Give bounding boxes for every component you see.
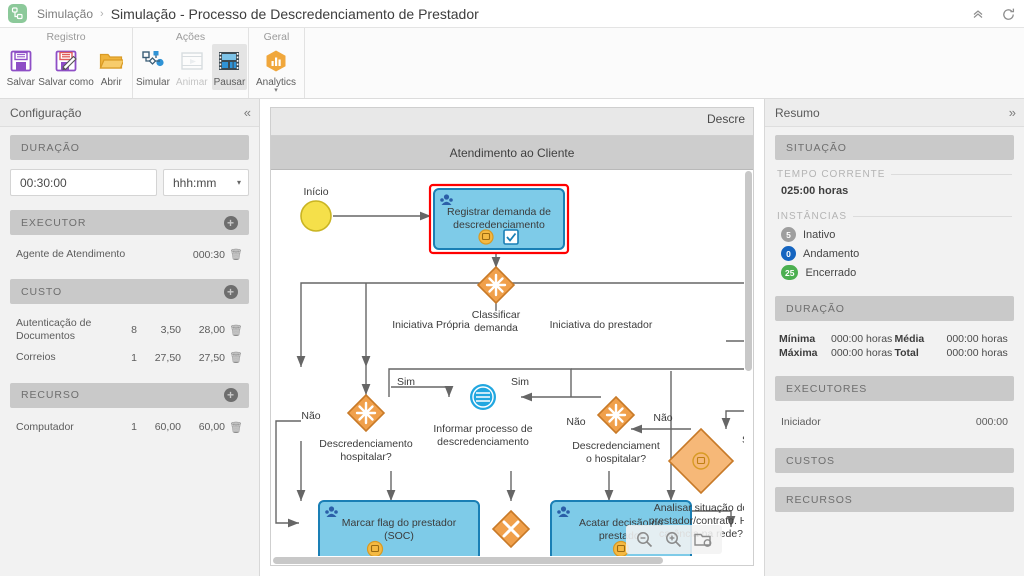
trash-icon[interactable]: 🗑 [225, 248, 243, 261]
save-label: Salvar [7, 77, 35, 88]
edge-label-iniciativa-propria: Iniciativa Própria [392, 319, 470, 331]
resumo-panel-header: Resumo » [765, 99, 1024, 127]
gateway-descred-hosp-label-2: hospitalar? [340, 451, 392, 463]
status-badge: 25 [781, 265, 798, 280]
gateway-descred-hosp2-label-2: o hospitalar? [586, 453, 646, 465]
save-icon [9, 47, 33, 74]
simulation-app: Simulação › Simulação - Processo de Desc… [0, 0, 1024, 576]
custo-row[interactable]: Autenticação de Documentos 8 3,50 28,00 … [10, 313, 249, 347]
task-registrar-label-2: descredenciamento [453, 219, 545, 231]
section-executores-label: EXECUTORES [786, 383, 867, 395]
horizontal-scroll-thumb[interactable] [273, 557, 663, 564]
ribbon-group-label: Geral [249, 28, 304, 44]
duracao-minima-value: 000:00 horas [831, 333, 892, 345]
save-as-label: Salvar como [38, 77, 94, 88]
intermediate-event-informar-processo [470, 384, 496, 410]
tempo-corrente-group: TEMPO CORRENTE [777, 169, 1012, 180]
trash-icon[interactable]: 🗑 [225, 324, 243, 337]
edge-label-nao-3: Não [653, 412, 672, 424]
add-recurso-button[interactable]: + [224, 388, 238, 402]
edge-label-nao-1: Não [301, 410, 320, 422]
duracao-maxima-label: Máxima [779, 347, 831, 359]
section-duracao-label: DURAÇÃO [21, 142, 80, 154]
edge-label-iniciativa-prestador: Iniciativa do prestador [550, 319, 653, 331]
main-body: Configuração « DURAÇÃO 00:30:00 hhh:mm ▾ [0, 99, 1024, 576]
section-custo: CUSTO + [10, 279, 249, 304]
executores-name: Iniciador [781, 416, 976, 428]
instance-label: Andamento [803, 248, 859, 260]
duracao-total-value: 000:00 horas [947, 347, 1008, 359]
configuration-panel-title: Configuração [10, 106, 81, 120]
duration-row: 00:30:00 hhh:mm ▾ [10, 169, 249, 196]
edge-label-sim-2: Sim [511, 376, 529, 388]
save-as-icon [54, 47, 78, 74]
folder-open-icon [99, 47, 123, 74]
duracao-maxima-row: Máxima 000:00 horas [779, 346, 895, 360]
lane-header: Atendimento ao Cliente [271, 136, 753, 170]
pool-title: Descre [707, 112, 745, 126]
ribbon-group-label: Registro [0, 28, 132, 44]
lane-title: Atendimento ao Cliente [450, 146, 575, 160]
page-title: Simulação - Processo de Descredenciament… [111, 6, 479, 22]
bpmn-diagram-svg[interactable]: Início Registrar demanda de descredencia… [271, 171, 754, 566]
duration-unit-select[interactable]: hhh:mm ▾ [163, 169, 249, 196]
recurso-row[interactable]: Computador 1 60,00 60,00 🗑 [10, 417, 249, 438]
instancias-label: INSTÂNCIAS [777, 211, 847, 222]
zoom-in-icon[interactable] [665, 531, 682, 548]
animate-icon [180, 47, 204, 74]
custo-total: 27,50 [181, 352, 225, 364]
executores-row: Iniciador 000:00 [775, 410, 1014, 434]
zoom-out-icon[interactable] [636, 531, 653, 548]
section-recurso: RECURSO + [10, 383, 249, 408]
animate-label: Animar [176, 77, 208, 88]
custo-unit-price: 27,50 [137, 352, 181, 364]
analytics-button[interactable]: Analytics ▾ [250, 44, 302, 95]
section-custos-label: CUSTOS [786, 455, 835, 467]
resumo-panel-title: Resumo [775, 106, 820, 120]
section-duracao: DURAÇÃO [10, 135, 249, 160]
custo-unit-price: 3,50 [137, 324, 181, 336]
instance-row-andamento: 0 Andamento [775, 244, 1014, 263]
task-marcar-label-2: (SOC) [384, 530, 414, 542]
instancias-group: INSTÂNCIAS [777, 211, 1012, 222]
pause-film-icon [217, 47, 241, 74]
section-recursos[interactable]: RECURSOS [775, 487, 1014, 512]
app-logo-icon [8, 4, 27, 23]
simulate-label: Simular [136, 77, 170, 88]
analytics-icon [264, 47, 288, 74]
duration-input-value: 00:30:00 [20, 176, 67, 190]
status-badge: 5 [781, 227, 796, 242]
configuration-panel-body: DURAÇÃO 00:30:00 hhh:mm ▾ EXECUTOR + [0, 127, 259, 576]
duracao-col-right: Média 000:00 horas Total 000:00 horas [895, 332, 1011, 360]
ribbon-group-registro: Registro Salvar [0, 28, 133, 98]
ribbon-group-geral: Geral Analytics ▾ [249, 28, 305, 98]
section-recurso-label: RECURSO [21, 389, 80, 401]
executor-row[interactable]: Agente de Atendimento 000:30 🗑 [10, 244, 249, 265]
instance-row-inativo: 5 Inativo [775, 225, 1014, 244]
divider [891, 174, 1012, 175]
resumo-panel-body: SITUAÇÃO TEMPO CORRENTE 025:00 horas INS… [765, 127, 1024, 576]
start-event [301, 201, 331, 231]
section-situacao: SITUAÇÃO [775, 135, 1014, 160]
start-event-label: Início [303, 186, 328, 198]
section-custo-label: CUSTO [21, 286, 62, 298]
gateway-classificar-label-2: demanda [474, 322, 518, 334]
ribbon-toolbar: Registro Salvar [0, 28, 1024, 99]
event-informar-label-2: descredenciamento [437, 436, 529, 448]
configuration-panel: Configuração « DURAÇÃO 00:30:00 hhh:mm ▾ [0, 99, 260, 576]
task-registrar-label-1: Registrar demanda de [447, 206, 551, 218]
gateway-analisar-label-1: Analisar situação do [654, 502, 749, 514]
breadcrumb-separator: › [100, 8, 104, 20]
duracao-summary-grid: Mínima 000:00 horas Máxima 000:00 horas … [775, 330, 1014, 362]
executor-value: 000:30 [175, 249, 225, 261]
zoom-controls [626, 525, 722, 554]
duracao-minima-row: Mínima 000:00 horas [779, 332, 895, 346]
recurso-name: Computador [16, 421, 103, 434]
section-situacao-label: SITUAÇÃO [786, 142, 847, 154]
gateway-xor2 [493, 511, 529, 547]
recurso-qty: 1 [103, 421, 137, 433]
gateway-analisar-situacao [669, 429, 733, 493]
section-duracao-resumo-label: DURAÇÃO [786, 303, 845, 315]
trash-icon[interactable]: 🗑 [225, 351, 243, 364]
duracao-media-value: 000:00 horas [947, 333, 1008, 345]
section-executor-label: EXECUTOR [21, 217, 86, 229]
vertical-scroll-thumb[interactable] [745, 171, 752, 371]
pause-button[interactable]: Pausar [212, 44, 248, 90]
breadcrumb-root[interactable]: Simulação [37, 7, 93, 21]
edge-label-sim-1: Sim [397, 376, 415, 388]
custo-qty: 1 [103, 352, 137, 364]
divider [853, 216, 1012, 217]
gateway-classificar-label-1: Classificar [472, 309, 521, 321]
chevron-down-icon[interactable]: ▾ [274, 88, 278, 93]
gateway-descred-hosp-label-1: Descredenciamento [319, 438, 413, 450]
recurso-unit-price: 60,00 [137, 421, 181, 433]
canvas-vertical-scrollbar[interactable] [744, 171, 753, 557]
edge-label-nao-2: Não [566, 416, 585, 428]
section-duracao-resumo: DURAÇÃO [775, 296, 1014, 321]
custo-name: Correios [16, 351, 103, 364]
chevron-double-left-icon[interactable]: « [244, 105, 249, 120]
tempo-corrente-label: TEMPO CORRENTE [777, 169, 885, 180]
executores-value: 000:00 [976, 416, 1008, 428]
executor-name: Agente de Atendimento [16, 248, 175, 261]
chevron-down-icon: ▾ [237, 178, 241, 187]
fit-screen-icon[interactable] [694, 531, 712, 548]
gateway-descredenciamento-hospitalar-2 [598, 397, 634, 433]
resumo-panel: Resumo » SITUAÇÃO TEMPO CORRENTE 025:00 … [764, 99, 1024, 576]
section-custos[interactable]: CUSTOS [775, 448, 1014, 473]
status-badge: 0 [781, 246, 796, 261]
pool-header: Descre [271, 108, 753, 136]
bpmn-flow-layer[interactable]: Início Registrar demanda de descredencia… [271, 171, 753, 565]
bpmn-canvas[interactable]: Descre Atendimento ao Cliente [270, 107, 754, 566]
instance-label: Inativo [803, 229, 835, 241]
save-button[interactable]: Salvar [1, 44, 41, 90]
section-recursos-label: RECURSOS [786, 494, 853, 506]
trash-icon[interactable]: 🗑 [225, 421, 243, 434]
canvas-horizontal-scrollbar[interactable] [271, 556, 744, 565]
recurso-total: 60,00 [181, 421, 225, 433]
diagram-canvas-area[interactable]: Descre Atendimento ao Cliente [260, 99, 764, 576]
ribbon-filler [305, 28, 1024, 98]
custo-total: 28,00 [181, 324, 225, 336]
instance-row-encerrado: 25 Encerrado [775, 263, 1014, 282]
duration-unit-value: hhh:mm [173, 176, 216, 190]
event-informar-label-1: Informar processo de [433, 423, 532, 435]
ribbon-group-acoes: Ações Simular [133, 28, 249, 98]
gateway-descred-hosp2-label-1: Descredenciament [572, 440, 660, 452]
animate-button[interactable]: Animar [174, 44, 210, 90]
title-bar: Simulação › Simulação - Processo de Desc… [0, 0, 1024, 28]
titlebar-actions [970, 0, 1016, 28]
save-as-button[interactable]: Salvar como [43, 44, 90, 90]
duration-input[interactable]: 00:30:00 [10, 169, 157, 196]
custo-name: Autenticação de Documentos [16, 317, 103, 343]
open-label: Abrir [101, 77, 122, 88]
gateway-descredenciamento-hospitalar [348, 395, 384, 431]
tempo-corrente-value: 025:00 horas [775, 183, 1014, 203]
pause-label: Pausar [214, 77, 246, 88]
chevron-double-right-icon[interactable]: » [1009, 105, 1014, 120]
gateway-classificar-demanda [478, 267, 514, 303]
ribbon-group-label: Ações [133, 28, 248, 44]
duracao-total-row: Total 000:00 horas [895, 346, 1011, 360]
duracao-total-label: Total [895, 347, 947, 359]
add-executor-button[interactable]: + [224, 216, 238, 230]
simulate-button[interactable]: Simular [134, 44, 172, 90]
open-button[interactable]: Abrir [92, 44, 132, 90]
duracao-minima-label: Mínima [779, 333, 831, 345]
section-executores: EXECUTORES [775, 376, 1014, 401]
refresh-icon[interactable] [1000, 6, 1016, 22]
configuration-panel-header: Configuração « [0, 99, 259, 127]
section-executor: EXECUTOR + [10, 210, 249, 235]
custo-row[interactable]: Correios 1 27,50 27,50 🗑 [10, 347, 249, 368]
duracao-maxima-value: 000:00 horas [831, 347, 892, 359]
duracao-media-row: Média 000:00 horas [895, 332, 1011, 346]
instance-label: Encerrado [805, 267, 856, 279]
add-custo-button[interactable]: + [224, 285, 238, 299]
simulate-icon [141, 47, 165, 74]
custo-qty: 8 [103, 324, 137, 336]
chevron-up-icon[interactable] [970, 6, 986, 22]
task-marcar-label-1: Marcar flag do prestador [342, 517, 457, 529]
duracao-media-label: Média [895, 333, 947, 345]
duracao-col-left: Mínima 000:00 horas Máxima 000:00 horas [779, 332, 895, 360]
